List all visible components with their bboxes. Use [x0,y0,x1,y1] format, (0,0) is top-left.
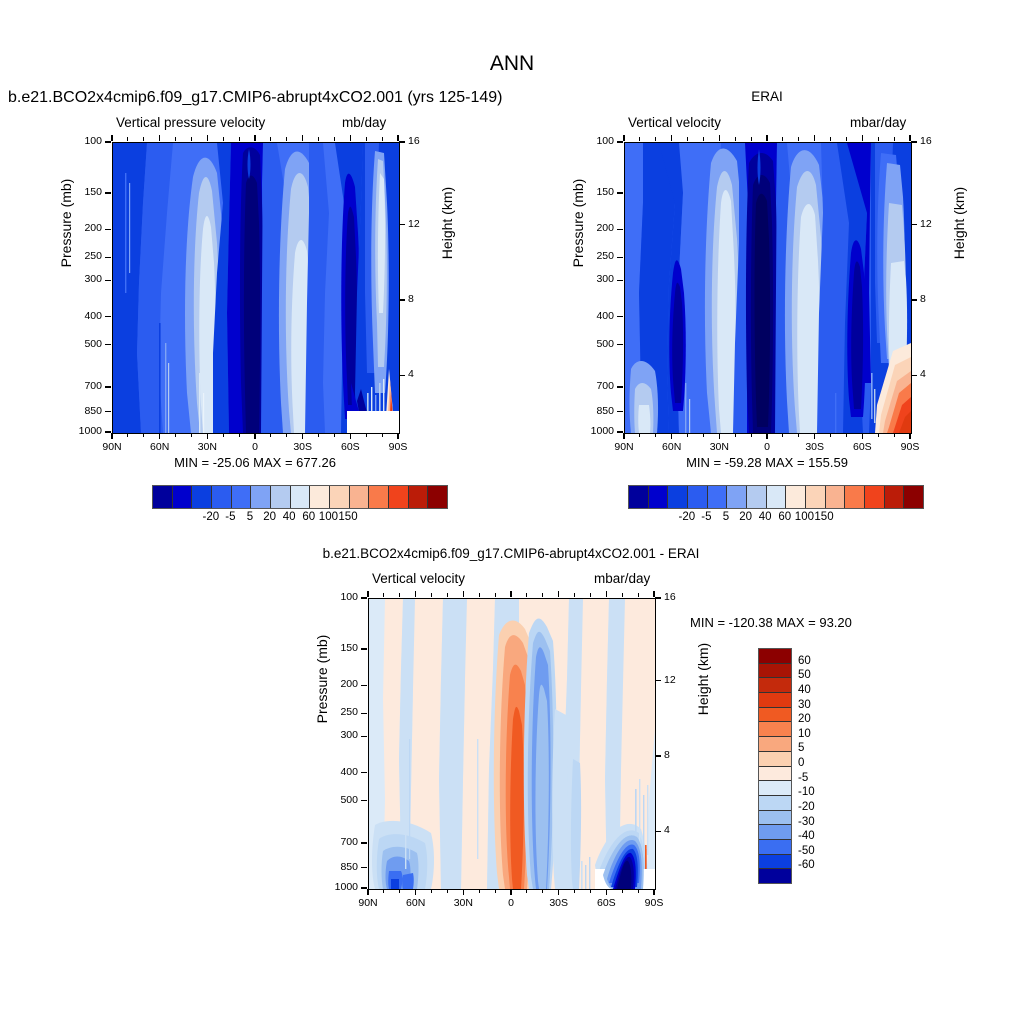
colorbar-tick-label: 50 [798,669,838,681]
colorbar-tick-label: -40 [798,830,838,842]
colorbar-tick-label: -60 [798,859,838,871]
colorbar-diff-labels: 60504030201050-5-10-20-30-40-50-60 [0,0,1024,1024]
colorbar-tick-label: -30 [798,816,838,828]
colorbar-tick-label: -20 [798,801,838,813]
colorbar-tick-label: 5 [798,742,838,754]
colorbar-tick-label: 0 [798,757,838,769]
colorbar-tick-label: -10 [798,786,838,798]
colorbar-tick-label: 20 [798,713,838,725]
colorbar-tick-label: 60 [798,655,838,667]
colorbar-tick-label: 40 [798,684,838,696]
colorbar-tick-label: -5 [798,772,838,784]
colorbar-tick-label: -50 [798,845,838,857]
colorbar-tick-label: 30 [798,699,838,711]
colorbar-tick-label: 10 [798,728,838,740]
